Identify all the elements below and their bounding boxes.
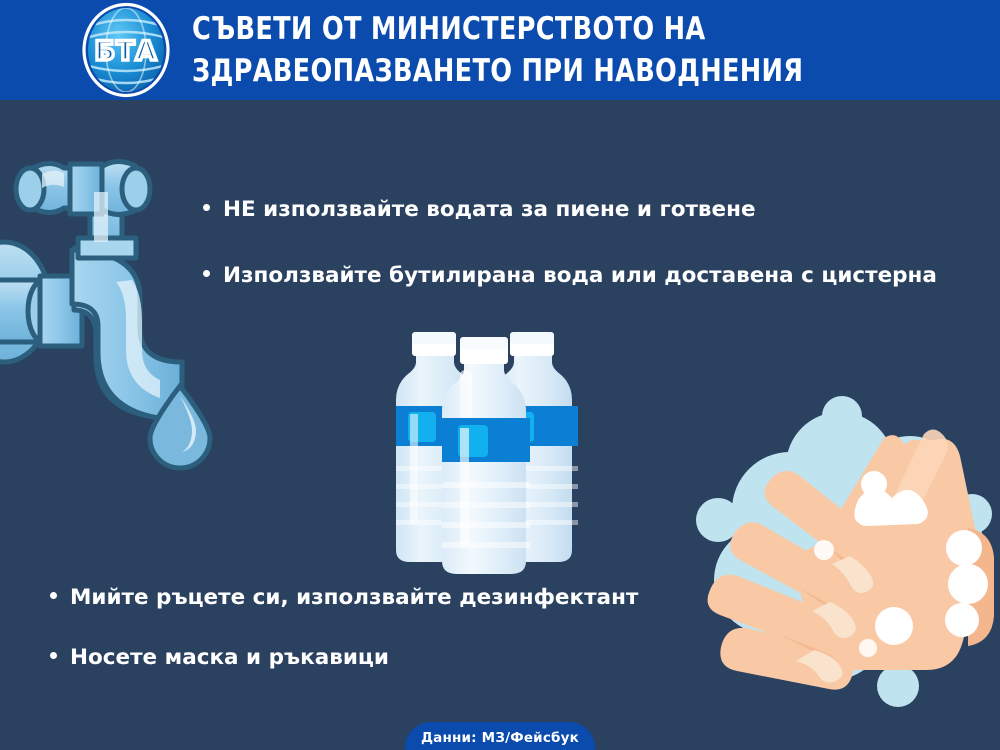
- bta-logo: БТА: [70, 6, 182, 94]
- bullet-text-2: Използвайте бутилирана вода или доставен…: [223, 263, 937, 288]
- title-line-2: ЗДРАВЕОПАЗВАНЕТО ПРИ НАВОДНЕНИЯ: [192, 50, 928, 92]
- water-bottles-illustration: [398, 318, 578, 570]
- header-bar: БТА СЪВЕТИ ОТ МИНИСТЕРСТВОТО НА ЗДРАВЕОП…: [0, 0, 1000, 100]
- bullet-item-3: Мийте ръцете си, използвайте дезинфектан…: [50, 585, 638, 610]
- water-drop-icon: [140, 380, 220, 462]
- bullet-text-1: НЕ използвайте водата за пиене и готвене: [223, 197, 756, 222]
- washing-hands-illustration: [672, 380, 1000, 710]
- bullet-dot-icon: [203, 204, 210, 211]
- bullet-item-1: НЕ използвайте водата за пиене и готвене: [203, 197, 756, 222]
- bullet-dot-icon: [50, 592, 57, 599]
- title-line-1: СЪВЕТИ ОТ МИНИСТЕРСТВОТО НА: [192, 8, 928, 50]
- bullet-item-4: Носете маска и ръкавици: [50, 645, 389, 670]
- bullet-text-4: Носете маска и ръкавици: [70, 645, 389, 670]
- bullet-dot-icon: [203, 270, 210, 277]
- bullet-text-3: Мийте ръцете си, използвайте дезинфектан…: [70, 585, 638, 610]
- bullet-item-2: Използвайте бутилирана вода или доставен…: [203, 263, 937, 288]
- source-label: Данни: МЗ/Фейсбук: [421, 722, 579, 746]
- infographic-page: БТА СЪВЕТИ ОТ МИНИСТЕРСТВОТО НА ЗДРАВЕОП…: [0, 0, 1000, 750]
- page-title: СЪВЕТИ ОТ МИНИСТЕРСТВОТО НА ЗДРАВЕОПАЗВА…: [192, 8, 928, 92]
- bullet-dot-icon: [50, 652, 57, 659]
- source-badge: Данни: МЗ/Фейсбук: [405, 722, 595, 750]
- bta-logo-text: БТА: [95, 36, 158, 67]
